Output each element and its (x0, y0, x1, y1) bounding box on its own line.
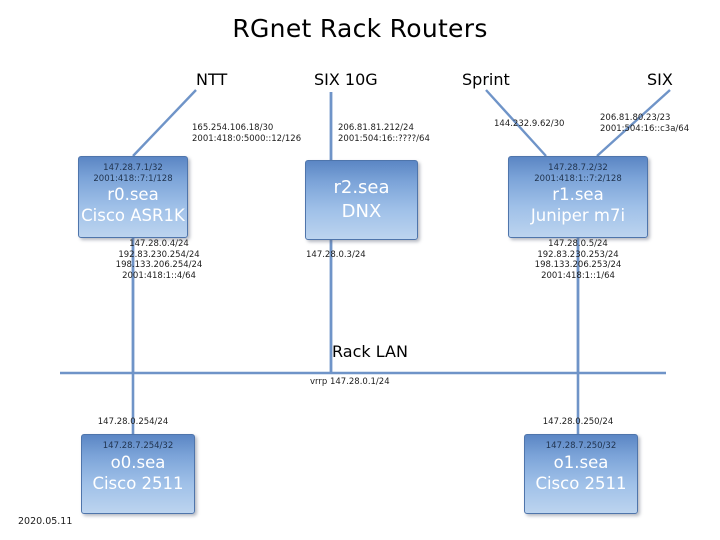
peer-addr-line: 206.81.81.212/24 (338, 123, 430, 134)
router-r1-name: r1.sea (509, 184, 647, 205)
peer-addr-line: 144.232.9.62/30 (494, 119, 564, 130)
peer-label-ntt: NTT (196, 70, 227, 89)
router-r0-loopback: 147.28.7.1/32 2001:418::7:1/128 (79, 157, 187, 184)
peer-addrs-six: 206.81.80.23/23 2001:504:16::c3a/64 (600, 113, 689, 134)
peer-label-six10g: SIX 10G (314, 70, 378, 89)
o1-name: o1.sea (525, 452, 637, 473)
router-r0-name: r0.sea (79, 184, 187, 205)
router-r1-downlink-addrs: 147.28.0.5/24 192.83.230.253/24 198.133.… (518, 239, 638, 281)
peer-addrs-sprint: 144.232.9.62/30 (494, 119, 564, 130)
router-node-r0[interactable]: 147.28.7.1/32 2001:418::7:1/128 r0.sea C… (78, 156, 188, 238)
page-title: RGnet Rack Routers (0, 14, 720, 43)
peer-label-six: SIX (647, 70, 673, 89)
router-r2-model: DNX (306, 200, 417, 224)
date-stamp: 2020.05.11 (18, 516, 72, 527)
lan-vrrp-label: vrrp 147.28.0.1/24 (310, 377, 390, 388)
peer-addr-line: 2001:418:0:5000::12/126 (192, 134, 301, 145)
o0-model: Cisco 2511 (82, 473, 194, 494)
peer-label-sprint: Sprint (462, 70, 510, 89)
o0-uplink-addr: 147.28.0.254/24 (78, 417, 188, 428)
diagram-canvas: RGnet Rack Routers NTT SIX 10G Sprint SI… (0, 0, 720, 540)
router-r0-model: Cisco ASR1K (79, 205, 187, 226)
router-r2-name: r2.sea (306, 176, 417, 200)
peer-addrs-six10g: 206.81.81.212/24 2001:504:16::????/64 (338, 123, 430, 144)
o1-loopback: 147.28.7.250/32 (525, 435, 637, 452)
o0-name: o0.sea (82, 452, 194, 473)
router-r2-labels: r2.sea DNX (306, 161, 417, 239)
router-node-r1[interactable]: 147.28.7.2/32 2001:418:1::7:2/128 r1.sea… (508, 156, 648, 238)
peer-addr-line: 206.81.80.23/23 (600, 113, 689, 124)
o0-loopback: 147.28.7.254/32 (82, 435, 194, 452)
console-node-o0[interactable]: 147.28.7.254/32 o0.sea Cisco 2511 (81, 434, 195, 514)
peer-addr-line: 2001:504:16::c3a/64 (600, 124, 689, 135)
peer-addr-line: 2001:504:16::????/64 (338, 134, 430, 145)
peer-addr-line: 165.254.106.18/30 (192, 123, 301, 134)
router-r1-model: Juniper m7i (509, 205, 647, 226)
router-r2-downlink-addrs: 147.28.0.3/24 (306, 250, 366, 261)
console-node-o1[interactable]: 147.28.7.250/32 o1.sea Cisco 2511 (524, 434, 638, 514)
router-r1-loopback: 147.28.7.2/32 2001:418:1::7:2/128 (509, 157, 647, 184)
peer-addrs-ntt: 165.254.106.18/30 2001:418:0:5000::12/12… (192, 123, 301, 144)
lan-label: Rack LAN (332, 342, 408, 361)
o1-uplink-addr: 147.28.0.250/24 (523, 417, 633, 428)
router-node-r2[interactable]: r2.sea DNX (305, 160, 418, 240)
router-r0-downlink-addrs: 147.28.0.4/24 192.83.230.254/24 198.133.… (99, 239, 219, 281)
wire-ntt-to-r0 (133, 90, 196, 156)
o1-model: Cisco 2511 (525, 473, 637, 494)
